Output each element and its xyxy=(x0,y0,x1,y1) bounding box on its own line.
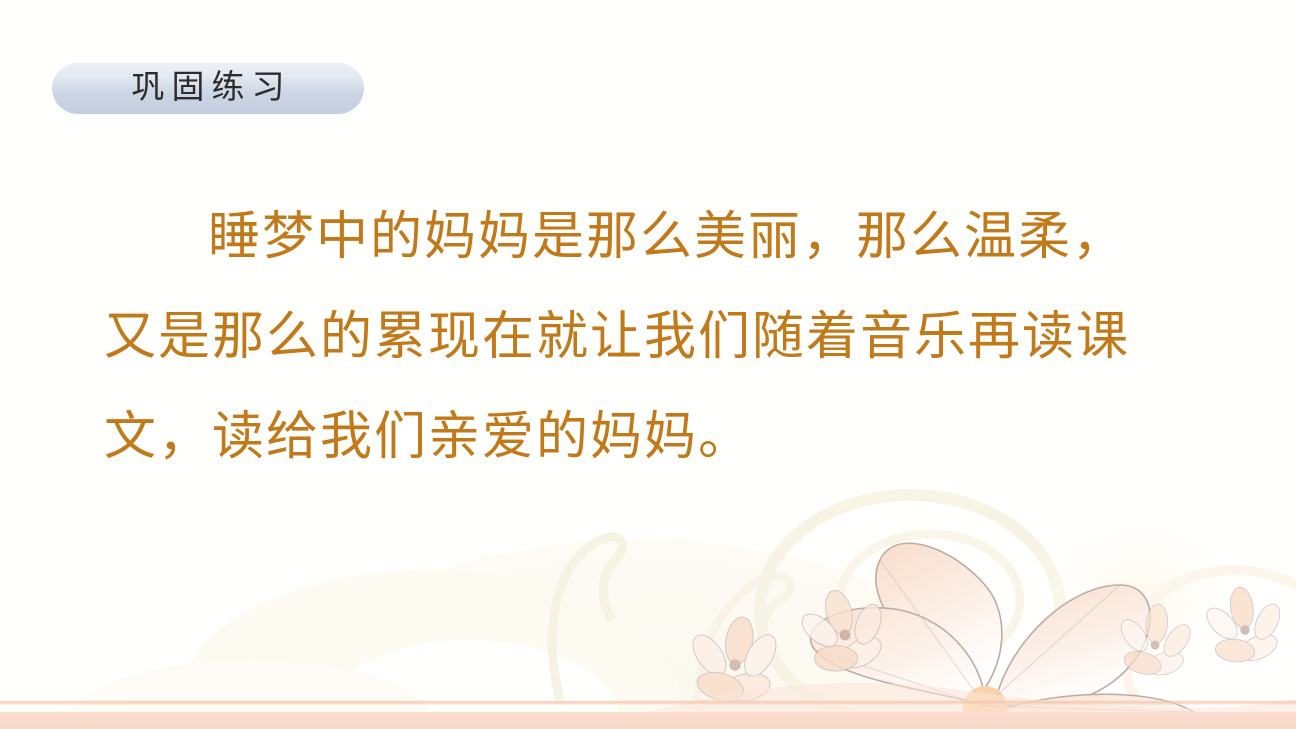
background-swirls xyxy=(70,495,1296,729)
body-text-line-1: 睡梦中的妈妈是那么美丽，那么温柔， xyxy=(104,188,1224,288)
section-badge: 巩固练习 xyxy=(52,62,364,114)
bottom-band xyxy=(0,712,1296,729)
body-text-line-2: 又是那么的累现在就让我们随着音乐再读课 xyxy=(104,288,1224,388)
small-blossom-far-right-b xyxy=(1201,586,1284,666)
section-badge-label: 巩固练习 xyxy=(125,72,292,105)
bottom-thin-stripe xyxy=(0,700,1296,705)
body-text-line-3: 文，读给我们亲爱的妈妈。 xyxy=(104,388,1224,488)
small-blossom-center xyxy=(796,587,886,674)
slide-canvas: 巩固练习 睡梦中的妈妈是那么美丽，那么温柔， 又是那么的累现在就让我们随着音乐再… xyxy=(0,0,1296,729)
body-text-block: 睡梦中的妈妈是那么美丽，那么温柔， 又是那么的累现在就让我们随着音乐再读课 文，… xyxy=(104,188,1224,488)
small-blossom-far-right-a xyxy=(1116,603,1196,678)
small-blossom-left xyxy=(686,615,782,706)
